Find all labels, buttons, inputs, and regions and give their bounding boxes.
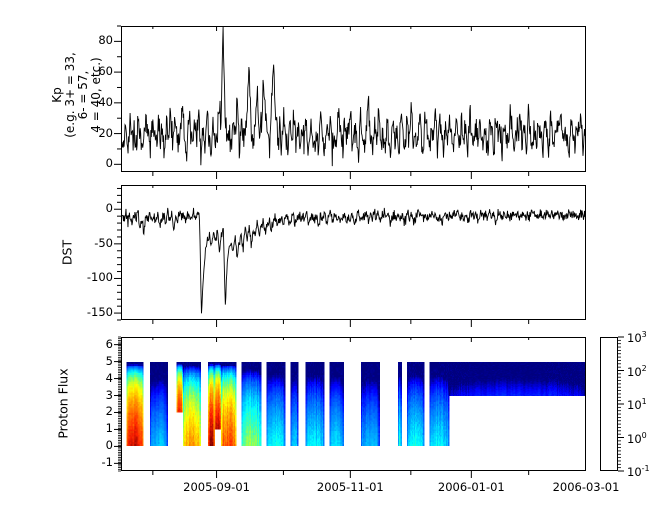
dst-plot-panel [121, 185, 586, 320]
flux-ytick-2: 2 [53, 406, 113, 418]
colorbar-tick-1: 102 [627, 364, 647, 379]
colorbar-tick-4: 10-1 [627, 464, 650, 479]
xtick-2006-01-01: 2006-01-01 [411, 482, 531, 494]
kp-ytick-40: 40 [53, 97, 113, 109]
dst-ytick--50: -50 [53, 238, 113, 250]
xtick-2006-03-01: 2006-03-01 [526, 482, 646, 494]
flux-ytick-3: 3 [53, 390, 113, 402]
flux-ytick--1: -1 [53, 457, 113, 469]
kp-ytick-20: 20 [53, 128, 113, 140]
colorbar [600, 337, 618, 471]
xtick-2005-11-01: 2005-11-01 [290, 482, 410, 494]
dst-axis-label: DST [60, 202, 75, 302]
colorbar-tick-2: 101 [627, 397, 647, 412]
flux-ytick-0: 0 [53, 440, 113, 452]
colorbar-gradient [600, 337, 618, 471]
flux-spectrogram-panel [121, 337, 586, 471]
colorbar-tick-0: 103 [627, 330, 647, 345]
dst-series-plot [122, 186, 585, 319]
dst-ytick-0: 0 [53, 203, 113, 215]
dst-ytick--150: -150 [53, 307, 113, 319]
dst-ytick--100: -100 [53, 272, 113, 284]
flux-heatmap [122, 338, 585, 470]
flux-ytick-5: 5 [53, 356, 113, 368]
figure-canvas: Kp (e.g. 3+ = 33, 6- = 57, 4 = 40, etc.)… [0, 0, 665, 523]
kp-ytick-0: 0 [53, 158, 113, 170]
flux-ytick-4: 4 [53, 373, 113, 385]
kp-series-plot [122, 27, 585, 171]
flux-axis-label: Proton Flux [56, 334, 71, 474]
kp-ytick-60: 60 [53, 66, 113, 78]
flux-ytick-1: 1 [53, 423, 113, 435]
xtick-2005-09-01: 2005-09-01 [157, 482, 277, 494]
kp-ytick-80: 80 [53, 35, 113, 47]
kp-plot-panel [121, 26, 586, 172]
colorbar-tick-3: 100 [627, 431, 647, 446]
flux-ytick-6: 6 [53, 339, 113, 351]
